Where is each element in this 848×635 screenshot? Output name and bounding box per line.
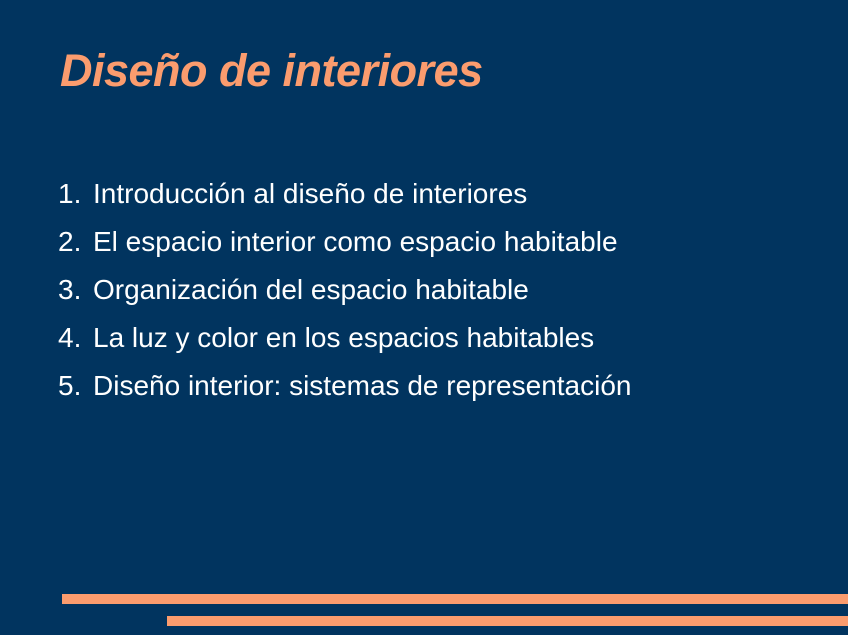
list-item-number: 4.	[58, 322, 93, 354]
list-item: 1. Introducción al diseño de interiores	[58, 178, 631, 226]
list-item-number: 3.	[58, 274, 93, 306]
list-item: 5. Diseño interior: sistemas de represen…	[58, 370, 631, 418]
decorative-accent-bar-upper	[62, 594, 848, 604]
list-item-label: Diseño interior: sistemas de representac…	[93, 370, 631, 402]
list-item-label: Organización del espacio habitable	[93, 274, 529, 306]
page-title: Diseño de interiores	[60, 45, 483, 97]
list-item-number: 1.	[58, 178, 93, 210]
list-item: 3. Organización del espacio habitable	[58, 274, 631, 322]
list-item-number: 5.	[58, 370, 93, 402]
agenda-list: 1. Introducción al diseño de interiores …	[58, 178, 631, 418]
list-item-number: 2.	[58, 226, 93, 258]
list-item: 4. La luz y color en los espacios habita…	[58, 322, 631, 370]
presentation-slide: Diseño de interiores 1. Introducción al …	[0, 0, 848, 635]
list-item-label: El espacio interior como espacio habitab…	[93, 226, 618, 258]
list-item-label: La luz y color en los espacios habitable…	[93, 322, 594, 354]
list-item: 2. El espacio interior como espacio habi…	[58, 226, 631, 274]
decorative-accent-bar-lower	[167, 616, 848, 626]
list-item-label: Introducción al diseño de interiores	[93, 178, 527, 210]
